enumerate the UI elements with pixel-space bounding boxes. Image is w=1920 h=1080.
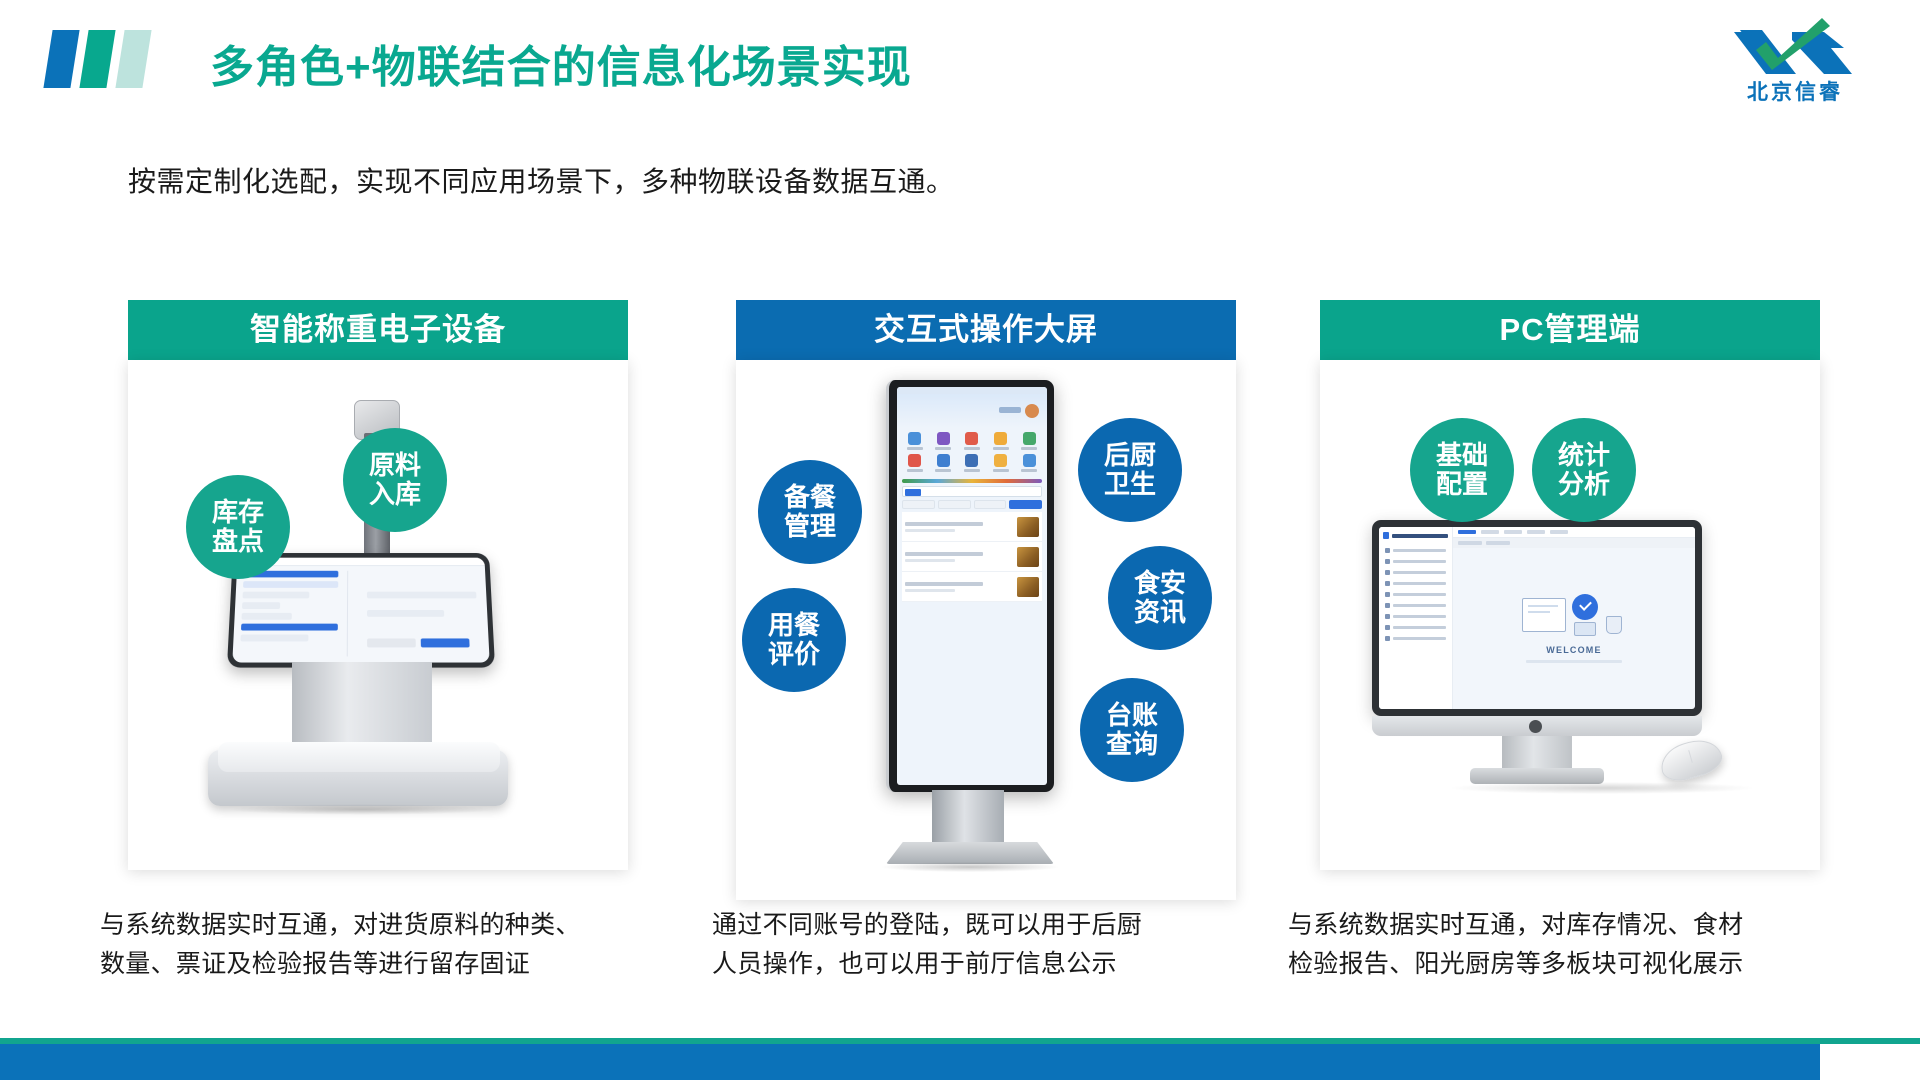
badge-meal-prep-line2: 管理 xyxy=(784,512,836,541)
kiosk-app-icon-10[interactable] xyxy=(1016,454,1042,472)
badge-inventory-count-line2: 盘点 xyxy=(212,527,264,556)
badge-material-inbound-line1: 原料 xyxy=(369,451,421,480)
admin-toolbar-item[interactable] xyxy=(1481,530,1499,534)
badge-dining-review-line2: 评价 xyxy=(768,640,820,669)
badge-statistics-line1: 统计 xyxy=(1558,441,1610,470)
admin-nav-item[interactable] xyxy=(1383,545,1448,556)
kiosk-avatar-icon xyxy=(1025,404,1039,418)
check-circle-icon xyxy=(1572,594,1598,620)
admin-nav-item[interactable] xyxy=(1383,622,1448,633)
scale-screen-row xyxy=(241,624,338,631)
scale-screen-field xyxy=(367,610,444,617)
admin-welcome-panel: WELCOME xyxy=(1453,548,1695,709)
desktop-computer-illustration: WELCOME xyxy=(1372,520,1768,810)
admin-nav-item[interactable] xyxy=(1383,589,1448,600)
card-interactive-screen-title: 交互式操作大屏 xyxy=(736,300,1236,360)
admin-nav-item[interactable] xyxy=(1383,578,1448,589)
kiosk-color-divider xyxy=(902,479,1042,483)
xr-logo-mark-icon xyxy=(1732,18,1860,76)
kiosk-dish-thumbnail xyxy=(1017,577,1039,597)
computer-mouse xyxy=(1656,734,1726,786)
admin-toolbar-item[interactable] xyxy=(1550,530,1568,534)
badge-material-inbound-line2: 入库 xyxy=(369,480,421,509)
kiosk-tab-1[interactable] xyxy=(902,500,935,509)
kiosk-tab-4-active[interactable] xyxy=(1009,500,1042,509)
scale-screen-row xyxy=(243,581,338,588)
kiosk-list-item[interactable] xyxy=(902,512,1042,542)
imac-logo-dot xyxy=(1529,720,1542,733)
kiosk-app-icon-9[interactable] xyxy=(988,454,1014,472)
kiosk-app-icon-3[interactable] xyxy=(959,432,985,450)
cards-row: 智能称重电子设备 xyxy=(0,300,1920,920)
imac-stand-neck xyxy=(1502,736,1572,770)
kiosk-user-label xyxy=(999,407,1021,413)
scale-screen-left-pane xyxy=(240,571,339,657)
badge-dining-review-line1: 用餐 xyxy=(768,611,820,640)
page-footer xyxy=(0,1022,1920,1080)
scale-screen-row xyxy=(242,602,281,609)
badge-kitchen-hygiene-line2: 卫生 xyxy=(1104,470,1156,499)
badge-statistics-line2: 分析 xyxy=(1558,470,1610,499)
admin-welcome-subtext xyxy=(1526,660,1622,663)
kiosk-app-icon-5[interactable] xyxy=(1016,432,1042,450)
page-title: 多角色+物联结合的信息化场景实现 xyxy=(210,31,912,95)
kiosk-ground-shadow xyxy=(882,862,1058,872)
kiosk-status-bar xyxy=(897,387,1047,394)
badge-meal-prep-management[interactable]: 备餐 管理 xyxy=(758,460,862,564)
badge-dining-review[interactable]: 用餐 评价 xyxy=(742,588,846,692)
scale-screen-row xyxy=(243,592,310,599)
kiosk-app-icon-8[interactable] xyxy=(959,454,985,472)
card-pc-admin: PC管理端 xyxy=(1320,300,1820,870)
admin-nav-item[interactable] xyxy=(1383,611,1448,622)
badge-food-safety-line1: 食安 xyxy=(1134,569,1186,598)
caption-smart-scale: 与系统数据实时互通，对进货原料的种类、 数量、票证及检验报告等进行留存固证 xyxy=(100,906,660,984)
logo-company-name: 北京信睿 xyxy=(1710,76,1880,106)
admin-toolbar-item[interactable] xyxy=(1504,530,1522,534)
badge-basic-config-line1: 基础 xyxy=(1436,441,1488,470)
admin-welcome-text: WELCOME xyxy=(1546,645,1601,655)
admin-tab[interactable] xyxy=(1486,541,1510,545)
kiosk-tab-3[interactable] xyxy=(974,500,1007,509)
admin-main-area: WELCOME xyxy=(1453,527,1695,709)
admin-nav-item[interactable] xyxy=(1383,567,1448,578)
accent-bar-teal xyxy=(79,30,115,88)
card-smart-scale-title: 智能称重电子设备 xyxy=(128,300,628,360)
kiosk-dish-thumbnail xyxy=(1017,517,1039,537)
kiosk-app-icon-4[interactable] xyxy=(988,432,1014,450)
admin-nav-item[interactable] xyxy=(1383,600,1448,611)
card-pc-admin-title: PC管理端 xyxy=(1320,300,1820,360)
card-smart-scale-body: 库存 盘点 原料 入库 xyxy=(128,360,628,870)
kiosk-stand-base xyxy=(886,842,1054,864)
scale-ground-shadow xyxy=(228,804,496,815)
admin-sidebar xyxy=(1379,527,1453,709)
page-subtitle: 按需定制化选配，实现不同应用场景下，多种物联设备数据互通。 xyxy=(128,160,955,200)
admin-tab[interactable] xyxy=(1458,541,1482,545)
company-logo: 北京信睿 xyxy=(1710,18,1880,112)
badge-food-safety-line2: 资讯 xyxy=(1134,598,1186,627)
admin-toolbar-item[interactable] xyxy=(1458,530,1476,534)
imac-bezel: WELCOME xyxy=(1372,520,1702,716)
kiosk-hero-banner xyxy=(897,394,1047,428)
admin-top-toolbar xyxy=(1453,527,1695,538)
kiosk-list-item[interactable] xyxy=(902,572,1042,602)
card-interactive-screen: 交互式操作大屏 xyxy=(736,300,1236,900)
scale-screen-right-pane xyxy=(367,571,479,657)
card-smart-scale: 智能称重电子设备 xyxy=(128,300,628,870)
kiosk-app-grid xyxy=(897,428,1047,476)
scale-screen-confirm-button xyxy=(421,638,470,647)
caption-pc-admin: 与系统数据实时互通，对库存情况、食材 检验报告、阳光厨房等多板块可视化展示 xyxy=(1288,906,1888,984)
imac-ground-shadow xyxy=(1452,782,1752,794)
admin-toolbar-item[interactable] xyxy=(1527,530,1545,534)
scale-tablet-display xyxy=(227,553,495,668)
badge-kitchen-hygiene[interactable]: 后厨 卫生 xyxy=(1078,418,1182,522)
admin-welcome-illustration xyxy=(1522,594,1626,640)
card-interactive-screen-body: 备餐 管理 用餐 评价 后厨 卫生 食安 资讯 台账 查询 xyxy=(736,360,1236,900)
card-pc-admin-body: WELCOME 基础 配置 统计 分析 xyxy=(1320,360,1820,870)
kiosk-frame xyxy=(886,380,1054,792)
admin-tab-bar xyxy=(1453,538,1695,548)
kiosk-dish-thumbnail xyxy=(1017,547,1039,567)
document-icon xyxy=(1522,598,1566,632)
scale-screen-row xyxy=(240,634,308,641)
scale-screen-cancel-button xyxy=(367,638,416,647)
header-accent-bars xyxy=(48,30,147,88)
kiosk-list-item[interactable] xyxy=(902,542,1042,572)
kiosk-search-tag xyxy=(905,489,921,496)
scale-tablet-screen xyxy=(232,558,489,663)
kiosk-app-icon-6[interactable] xyxy=(902,454,928,472)
kiosk-tab-2[interactable] xyxy=(938,500,971,509)
badge-inventory-count-line1: 库存 xyxy=(212,498,264,527)
badge-statistics-analysis[interactable]: 统计 分析 xyxy=(1532,418,1636,522)
cup-icon xyxy=(1606,616,1622,634)
badge-material-inbound[interactable]: 原料 入库 xyxy=(343,428,447,532)
footer-blue-bar xyxy=(0,1044,1820,1080)
kiosk-app-icon-2[interactable] xyxy=(931,432,957,450)
badge-kitchen-hygiene-line1: 后厨 xyxy=(1104,441,1156,470)
kiosk-app-icon-7[interactable] xyxy=(931,454,957,472)
accent-bar-light xyxy=(115,30,151,88)
box-icon xyxy=(1574,622,1596,636)
page-header: 多角色+物联结合的信息化场景实现 北京信睿 xyxy=(0,0,1920,120)
badge-ledger-query[interactable]: 台账 查询 xyxy=(1080,678,1184,782)
badge-ledger-query-line1: 台账 xyxy=(1106,701,1158,730)
scale-weighing-platform-surface xyxy=(218,742,500,772)
kiosk-search-bar[interactable] xyxy=(902,486,1042,497)
scale-screen-divider xyxy=(347,571,348,657)
digital-signage-kiosk-illustration xyxy=(868,380,1068,880)
badge-inventory-count[interactable]: 库存 盘点 xyxy=(186,475,290,579)
admin-nav-item[interactable] xyxy=(1383,556,1448,567)
kiosk-screen xyxy=(897,387,1047,785)
imac-screen: WELCOME xyxy=(1379,527,1695,709)
admin-brand xyxy=(1383,532,1448,539)
scale-screen-row xyxy=(241,613,291,620)
badge-ledger-query-line2: 查询 xyxy=(1106,730,1158,759)
badge-food-safety-news[interactable]: 食安 资讯 xyxy=(1108,546,1212,650)
kiosk-filter-tabs[interactable] xyxy=(902,500,1042,509)
badge-basic-config[interactable]: 基础 配置 xyxy=(1410,418,1514,522)
kiosk-app-icon-1[interactable] xyxy=(902,432,928,450)
caption-interactive-screen: 通过不同账号的登陆，既可以用于后厨 人员操作，也可以用于前厅信息公示 xyxy=(712,906,1252,984)
badge-meal-prep-line1: 备餐 xyxy=(784,483,836,512)
badge-basic-config-line2: 配置 xyxy=(1436,470,1488,499)
kiosk-dish-list xyxy=(902,512,1042,602)
kiosk-stand-neck xyxy=(932,790,1004,846)
scale-screen-field xyxy=(367,592,477,599)
admin-nav-item[interactable] xyxy=(1383,633,1448,644)
accent-bar-blue xyxy=(43,30,79,88)
